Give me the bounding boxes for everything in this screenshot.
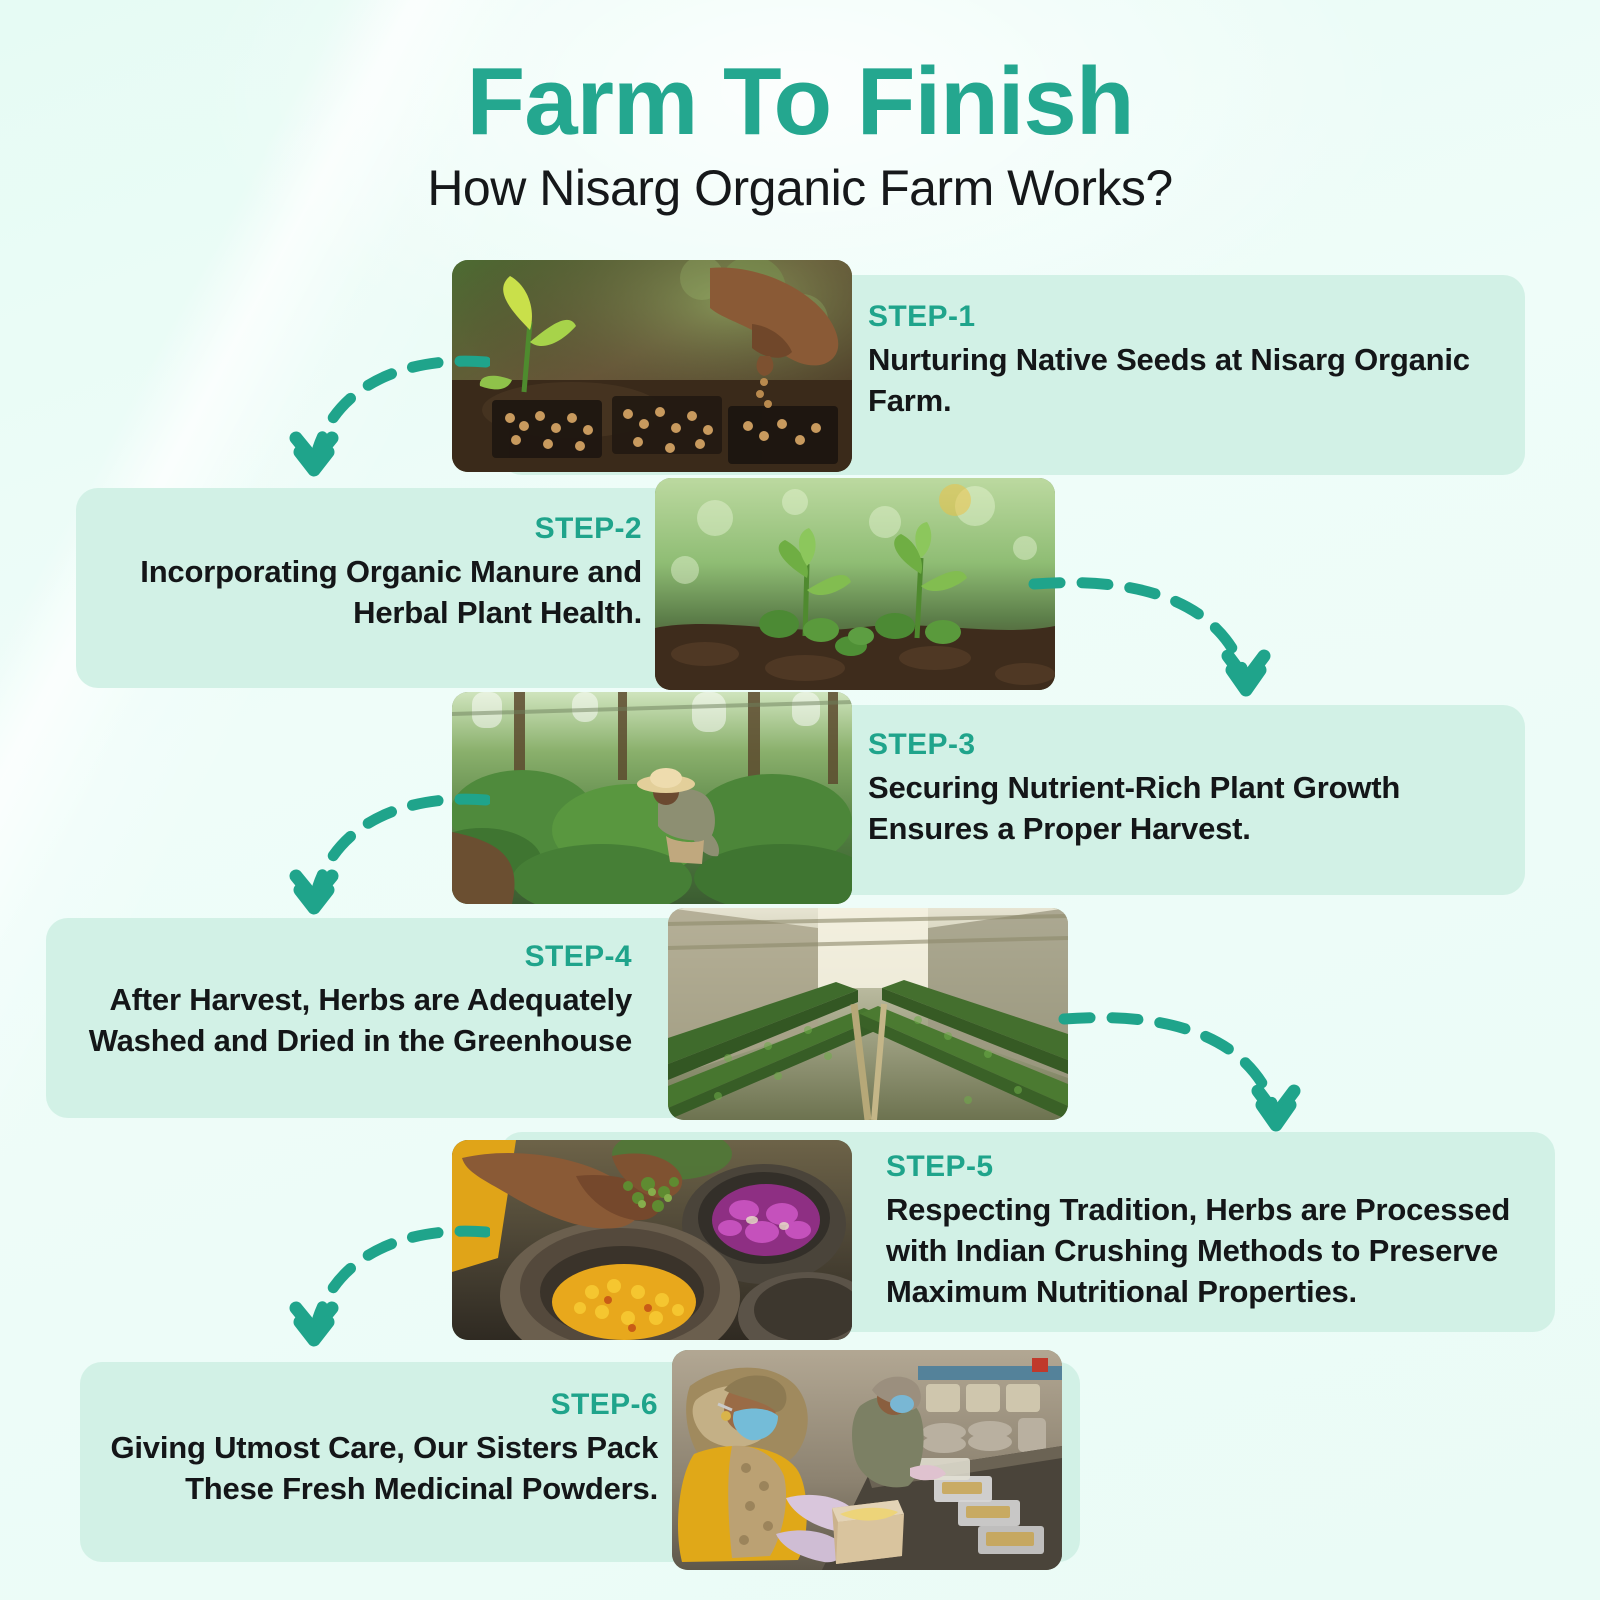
step-2-description: Incorporating Organic Manure and Herbal … — [130, 552, 642, 634]
page-subtitle: How Nisarg Organic Farm Works? — [0, 159, 1600, 217]
step-4-text: STEP-4 After Harvest, Herbs are Adequate… — [80, 940, 632, 1062]
women-packing-powders-image — [672, 1350, 1062, 1570]
step-2-label: STEP-2 — [130, 512, 642, 546]
mortar-crushing-herbs-image — [452, 1140, 852, 1340]
step-6-photo — [672, 1350, 1062, 1570]
step-5-description: Respecting Tradition, Herbs are Processe… — [886, 1190, 1536, 1313]
step-4-photo — [668, 908, 1068, 1120]
greenhouse-drying-trays-image — [668, 908, 1068, 1120]
step-1-text: STEP-1 Nurturing Native Seeds at Nisarg … — [868, 300, 1488, 422]
seedlings-soil-image — [655, 478, 1055, 690]
step-6-description: Giving Utmost Care, Our Sisters Pack The… — [110, 1428, 658, 1510]
step-2-text: STEP-2 Incorporating Organic Manure and … — [130, 512, 642, 634]
step-6-label: STEP-6 — [110, 1388, 658, 1422]
step-3-photo — [452, 692, 852, 904]
step-4-label: STEP-4 — [80, 940, 632, 974]
header: Farm To Finish How Nisarg Organic Farm W… — [0, 52, 1600, 217]
step-6-text: STEP-6 Giving Utmost Care, Our Sisters P… — [110, 1388, 658, 1510]
step-5-label: STEP-5 — [886, 1150, 1536, 1184]
arrow-step2-to-step3 — [1020, 540, 1280, 710]
infographic-page: Farm To Finish How Nisarg Organic Farm W… — [0, 0, 1600, 1600]
step-3-text: STEP-3 Securing Nutrient-Rich Plant Grow… — [868, 728, 1508, 850]
step-4-description: After Harvest, Herbs are Adequately Wash… — [80, 980, 632, 1062]
step-1-description: Nurturing Native Seeds at Nisarg Organic… — [868, 340, 1488, 422]
step-5-photo — [452, 1140, 852, 1340]
page-title: Farm To Finish — [0, 52, 1600, 153]
step-3-description: Securing Nutrient-Rich Plant Growth Ensu… — [868, 768, 1508, 850]
arrow-step4-to-step5 — [1050, 975, 1310, 1145]
seed-sowing-image — [452, 260, 852, 472]
step-1-photo — [452, 260, 852, 472]
step-1-label: STEP-1 — [868, 300, 1488, 334]
step-5-text: STEP-5 Respecting Tradition, Herbs are P… — [886, 1150, 1536, 1313]
step-3-label: STEP-3 — [868, 728, 1508, 762]
farmer-tending-beds-image — [452, 692, 852, 904]
step-2-photo — [655, 478, 1055, 690]
